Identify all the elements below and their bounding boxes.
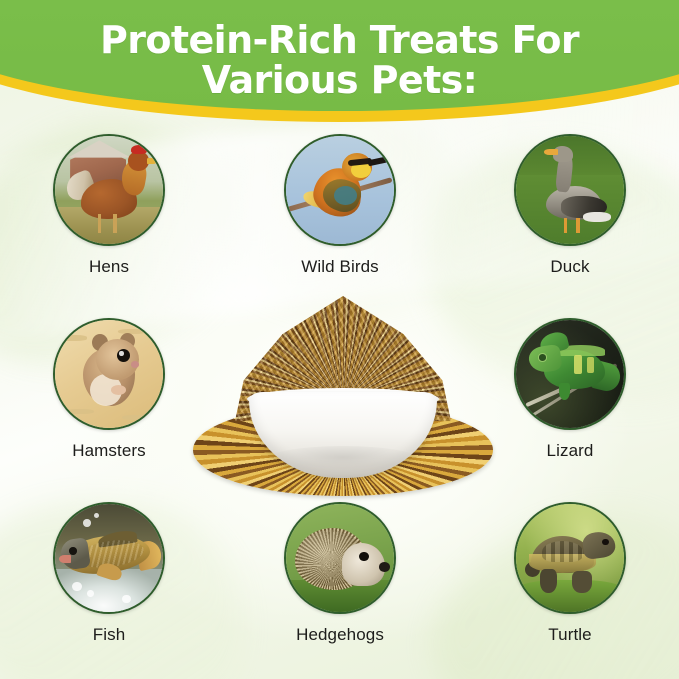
pet-item-hedgehogs[interactable]: Hedgehogs [240,502,440,645]
pet-label-turtle: Turtle [470,625,670,645]
page-title: Protein-Rich Treats For Various Pets: [0,20,679,100]
pet-label-hamsters: Hamsters [9,441,209,461]
pet-photo-hamsters [53,318,165,430]
pet-photo-fish [53,502,165,614]
pet-label-hens: Hens [9,257,209,277]
pet-label-fish: Fish [9,625,209,645]
pet-photo-lizard [514,318,626,430]
pet-item-hamsters[interactable]: Hamsters [9,318,209,461]
bowl-shadow [265,446,421,474]
pet-photo-duck [514,134,626,246]
pet-item-turtle[interactable]: Turtle [470,502,670,645]
pet-label-wildbirds: Wild Birds [240,257,440,277]
pet-photo-turtle [514,502,626,614]
pet-photo-hens [53,134,165,246]
product-image-mealworm-bowl [193,296,493,496]
pet-label-hedgehogs: Hedgehogs [240,625,440,645]
pet-item-wildbirds[interactable]: Wild Birds [240,134,440,277]
pet-photo-hedgehogs [284,502,396,614]
pet-item-hens[interactable]: Hens [9,134,209,277]
pet-item-duck[interactable]: Duck [470,134,670,277]
pet-photo-wildbirds [284,134,396,246]
pet-item-fish[interactable]: Fish [9,502,209,645]
pet-label-lizard: Lizard [470,441,670,461]
pet-label-duck: Duck [470,257,670,277]
page-title-line-1: Protein-Rich Treats For [0,20,679,60]
infographic-page: Protein-Rich Treats For Various Pets: [0,0,679,679]
pet-item-lizard[interactable]: Lizard [470,318,670,461]
header-banner: Protein-Rich Treats For Various Pets: [0,0,679,130]
page-title-line-2: Various Pets: [0,60,679,100]
